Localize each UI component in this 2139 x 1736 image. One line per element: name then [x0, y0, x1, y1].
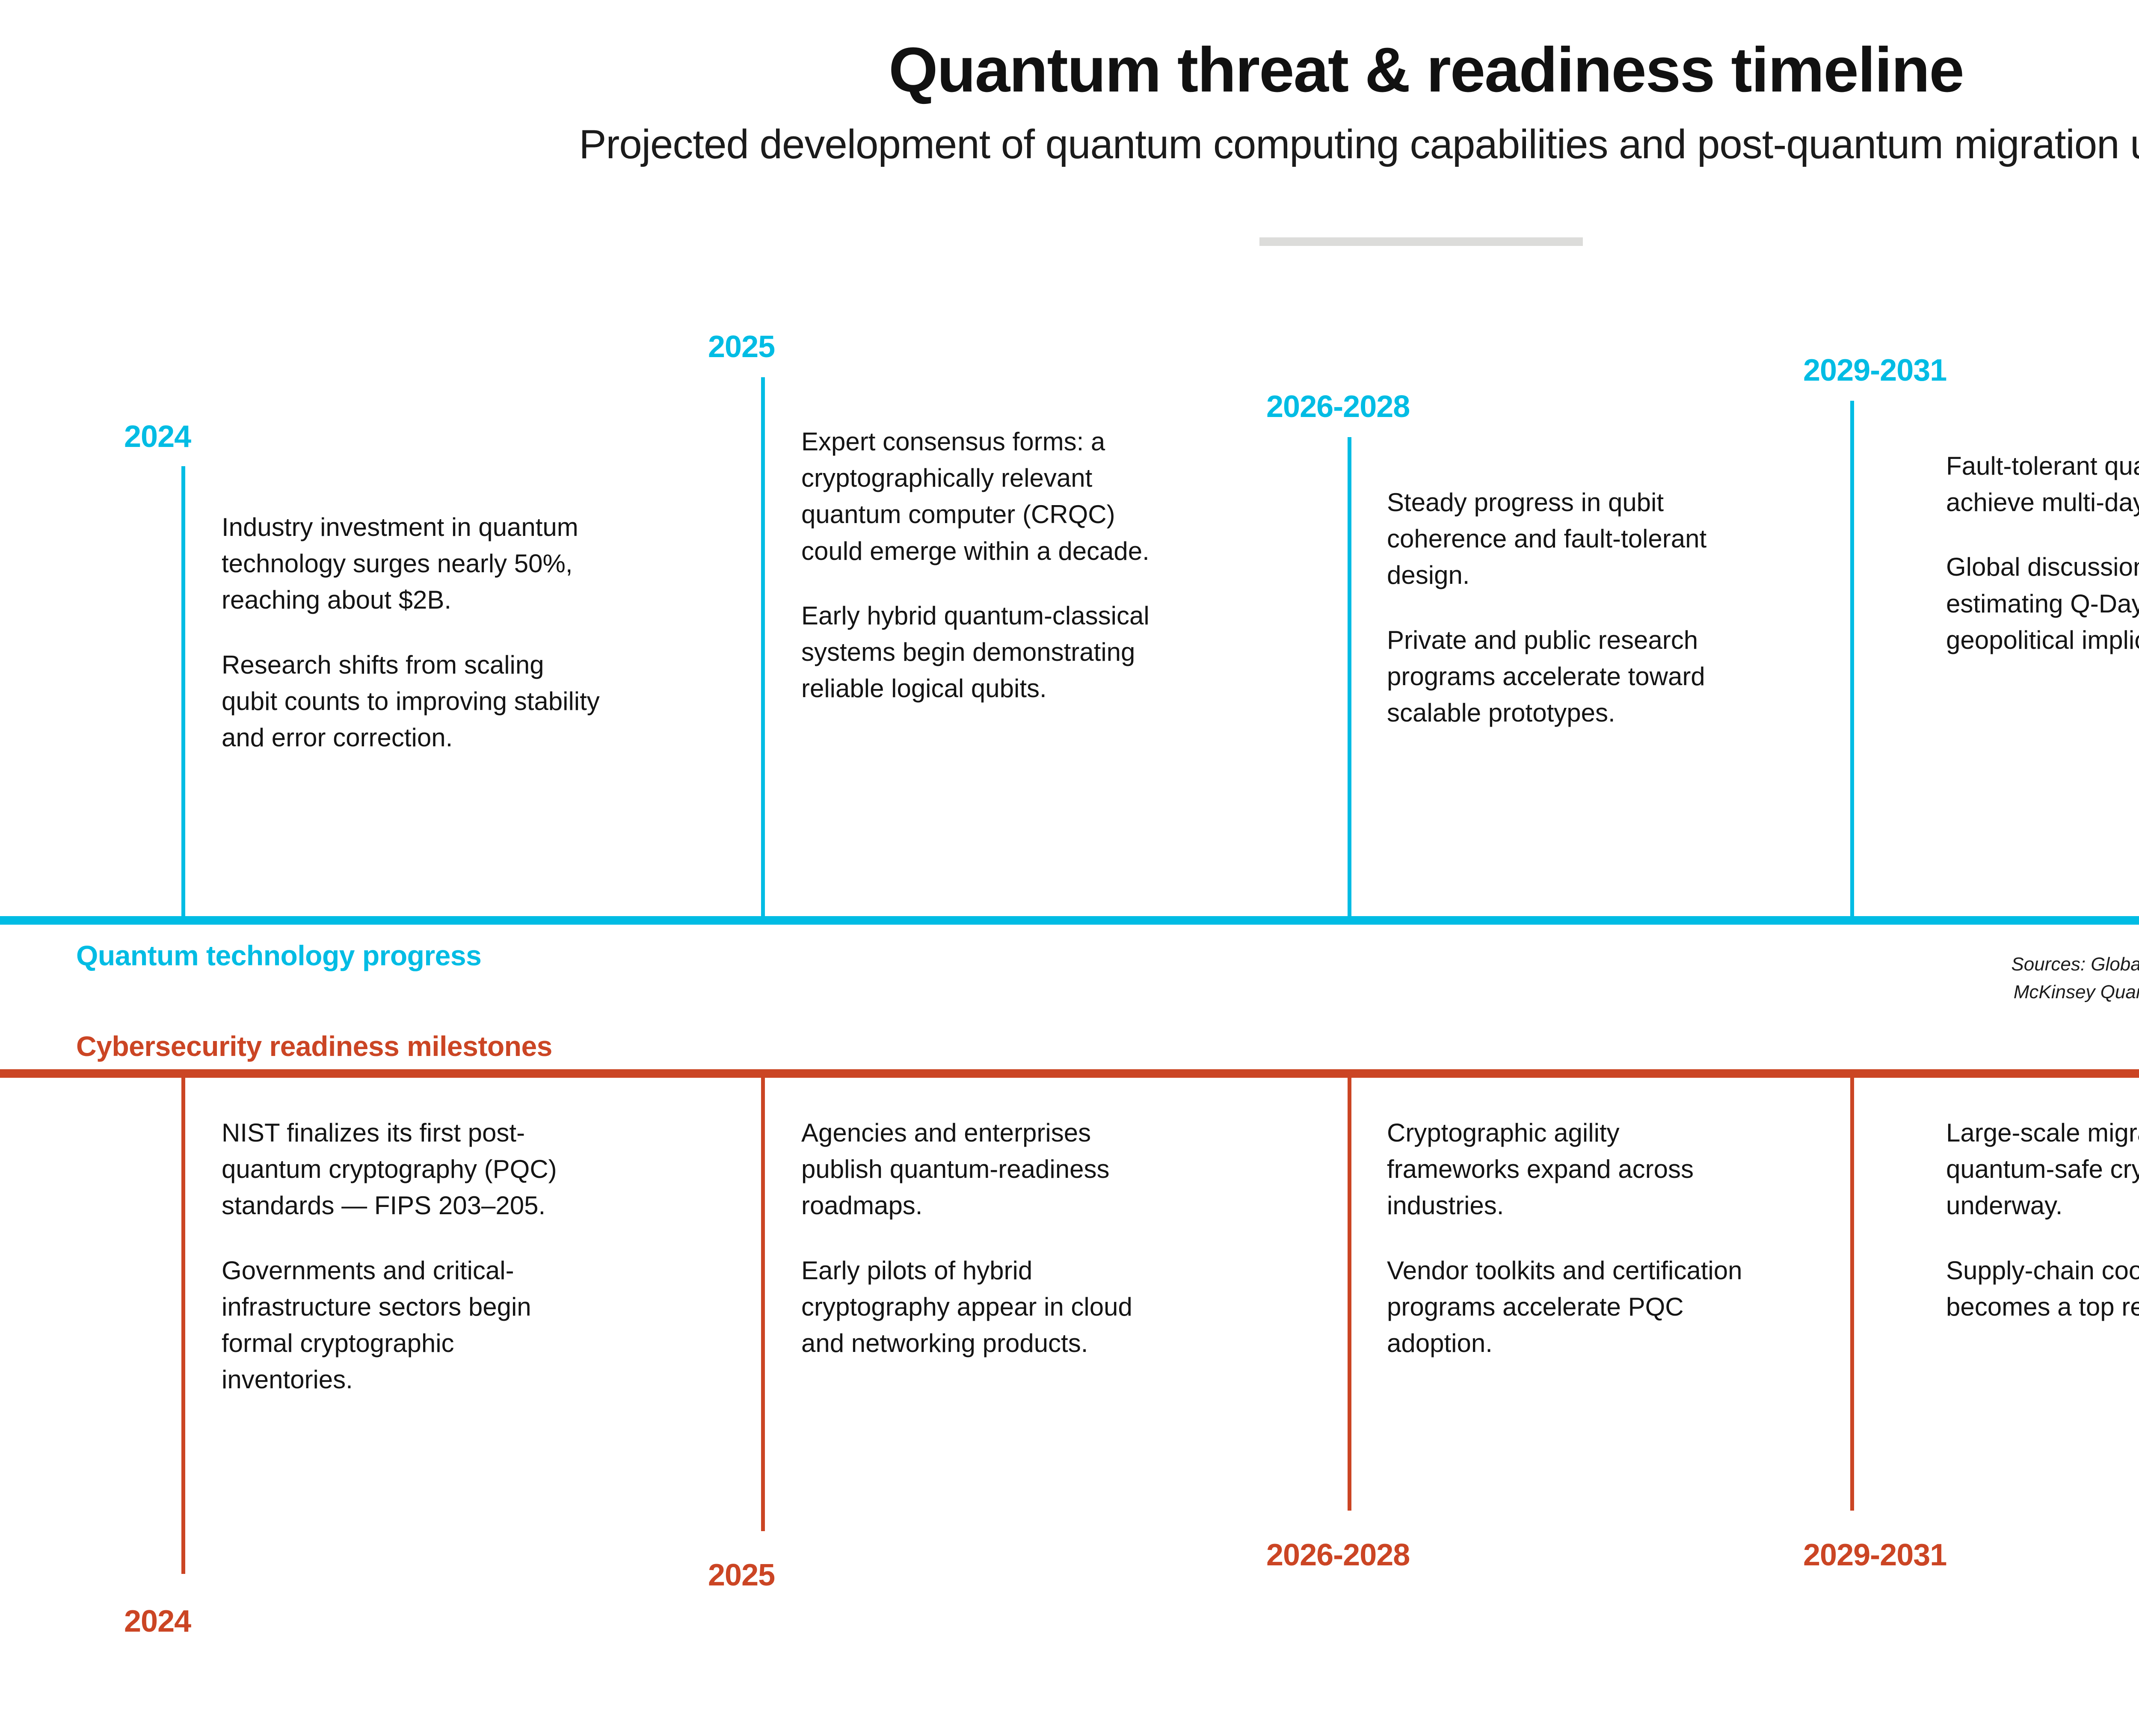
timeline-stem [761, 377, 765, 916]
entry-paragraph: Cryptographic agility frameworks expand … [1387, 1115, 1755, 1224]
entry-paragraph: Expert consensus forms: a cryptographica… [801, 423, 1178, 569]
quantum-progress-axis [0, 916, 2139, 925]
title-divider [1259, 237, 1583, 246]
entry-body: Expert consensus forms: a cryptographica… [801, 423, 1178, 707]
entry-paragraph: Global discussions focus on estimating Q… [1946, 549, 2139, 658]
entry-paragraph: Early pilots of hybrid cryptography appe… [801, 1252, 1156, 1362]
entry-body: Steady progress in qubit coherence and f… [1387, 484, 1763, 731]
infographic-canvas: Quantum threat & readiness timeline Proj… [0, 0, 2139, 1736]
sources-line-3: to Post-Quantum Cryptography; NIST, FIPS… [1714, 1006, 2139, 1034]
timeline-stem [761, 1078, 765, 1531]
entry-body: Fault-tolerant quantum systems achieve m… [1946, 448, 2139, 658]
year-label: 2024 [124, 1604, 191, 1639]
entry-paragraph: Large-scale migration to quantum-safe cr… [1946, 1115, 2139, 1224]
timeline-stem [181, 466, 185, 916]
year-label: 2026-2028 [1266, 389, 1410, 424]
legend-quantum-technology-progress: Quantum technology progress [76, 939, 481, 972]
entry-paragraph: Industry investment in quantum technolog… [222, 509, 607, 618]
entry-body: NIST finalizes its first post-quantum cr… [222, 1115, 572, 1398]
entry-paragraph: Supply-chain coordination becomes a top … [1946, 1252, 2139, 1325]
year-label: 2026-2028 [1266, 1538, 1410, 1573]
year-label: 2029-2031 [1803, 353, 1946, 388]
timeline-stem [1348, 1078, 1351, 1511]
year-label: 2025 [708, 1558, 775, 1593]
entry-paragraph: NIST finalizes its first post-quantum cr… [222, 1115, 572, 1224]
entry-paragraph: Fault-tolerant quantum systems achieve m… [1946, 448, 2139, 521]
entry-paragraph: Early hybrid quantum-classical systems b… [801, 597, 1178, 707]
entry-paragraph: Private and public research programs acc… [1387, 622, 1763, 731]
page-subtitle: Projected development of quantum computi… [0, 122, 2139, 167]
entry-paragraph: Research shifts from scaling qubit count… [222, 647, 607, 756]
entry-body: Industry investment in quantum technolog… [222, 509, 607, 756]
entry-paragraph: Steady progress in qubit coherence and f… [1387, 484, 1763, 594]
sources-line-1: Sources: Global Risk Institute, Quantum … [1714, 950, 2139, 978]
entry-body: Large-scale migration to quantum-safe cr… [1946, 1115, 2139, 1325]
timeline-stem [181, 1078, 185, 1574]
entry-paragraph: Agencies and enterprises publish quantum… [801, 1115, 1156, 1224]
header: Quantum threat & readiness timeline Proj… [0, 37, 2139, 167]
timeline-stem [1348, 437, 1351, 916]
entry-paragraph: Governments and critical-infrastructure … [222, 1252, 572, 1398]
year-label: 2024 [124, 419, 191, 454]
entry-body: Cryptographic agility frameworks expand … [1387, 1115, 1755, 1361]
year-label: 2025 [708, 329, 775, 364]
sources-line-2: McKinsey Quantum Technology Monitor; CIS… [1714, 978, 2139, 1006]
year-label: 2029-2031 [1803, 1538, 1946, 1573]
sources-note: Sources: Global Risk Institute, Quantum … [1714, 950, 2139, 1034]
legend-cybersecurity-readiness-milestones: Cybersecurity readiness milestones [76, 1030, 552, 1062]
page-title: Quantum threat & readiness timeline [0, 37, 2139, 103]
timeline-stem [1850, 401, 1854, 916]
timeline-stem [1850, 1078, 1854, 1511]
entry-body: Agencies and enterprises publish quantum… [801, 1115, 1156, 1361]
entry-paragraph: Vendor toolkits and certification progra… [1387, 1252, 1755, 1362]
cybersecurity-readiness-axis [0, 1069, 2139, 1078]
